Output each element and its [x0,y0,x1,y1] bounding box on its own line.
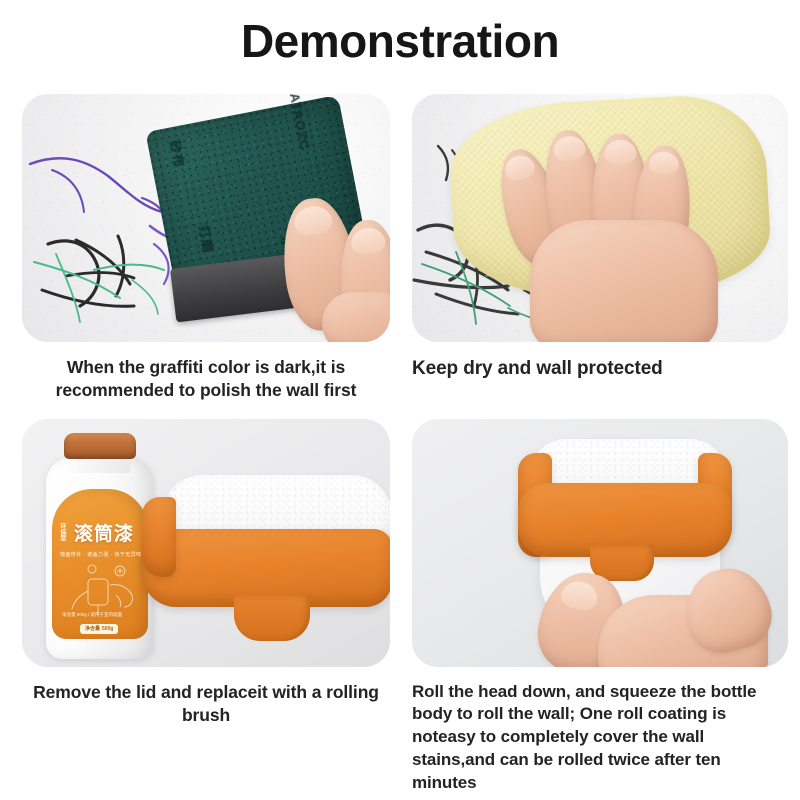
steps-row-bottom: 环保型 滚筒漆 墙面修补 · 遮盖力强 · 快干无异味 · 自刷不掉色 [0,413,800,796]
roller-stem [234,595,310,641]
photo-rolling-on-wall [412,419,788,667]
fingernail [292,204,334,237]
label-feature-text: 墙面修补 · 遮盖力强 · 快干无异味 · 自刷不掉色 [60,551,148,558]
photo-wiping-cloth [412,94,788,342]
page-title: Demonstration [0,0,800,67]
step-caption-roll-wall: Roll the head down, and squeeze the bott… [412,667,786,796]
fingernail [552,134,587,162]
fingernail [502,152,537,183]
step-card-polish-wall: 砂布 QATAOZC 8 SHZ 打磨 [0,88,400,403]
fingernail [604,139,637,164]
fingernail [648,151,679,175]
fingernail [350,227,386,255]
photo-sanding-wall: 砂布 QATAOZC 8 SHZ 打磨 [22,94,390,342]
label-vertical-text: 环保型 [58,523,65,541]
steps-row-top: 砂布 QATAOZC 8 SHZ 打磨 [0,88,800,403]
steps-grid: 砂布 QATAOZC 8 SHZ 打磨 [0,88,800,795]
label-illustration [58,561,144,619]
hand-palm [322,292,390,342]
label-weight-prefix: 净含量 [85,625,100,632]
label-product-name: 滚筒漆 [74,525,134,544]
bottle-cap [64,433,136,459]
step-card-keep-dry: Keep dry and wall protected [400,88,800,403]
roller-brush-head [512,439,740,579]
fingernail [559,578,600,613]
roller-frame-left-arm [142,497,176,577]
label-weight-badge: 净含量 500g [80,624,118,634]
step-caption-polish-wall: When the graffiti color is dark,it is re… [22,342,390,403]
demonstration-page: Demonstration [0,0,800,800]
bottle-label: 环保型 滚筒漆 墙面修补 · 遮盖力强 · 快干无异味 · 自刷不掉色 [52,489,148,639]
step-caption-replace-lid: Remove the lid and replaceit with a roll… [22,667,390,728]
photo-bottle-and-roller: 环保型 滚筒漆 墙面修补 · 遮盖力强 · 快干无异味 · 自刷不掉色 [22,419,390,667]
hand-palm [530,220,718,342]
step-card-roll-wall: Roll the head down, and squeeze the bott… [400,413,800,796]
step-caption-keep-dry: Keep dry and wall protected [412,342,786,381]
label-weight-value: 500g [102,626,113,632]
step-card-replace-lid: 环保型 滚筒漆 墙面修补 · 遮盖力强 · 快干无异味 · 自刷不掉色 [0,413,400,796]
roller-brush-head [142,475,390,645]
label-footer-text: 净含量 500g / 适用于室内墙面 [62,612,122,619]
